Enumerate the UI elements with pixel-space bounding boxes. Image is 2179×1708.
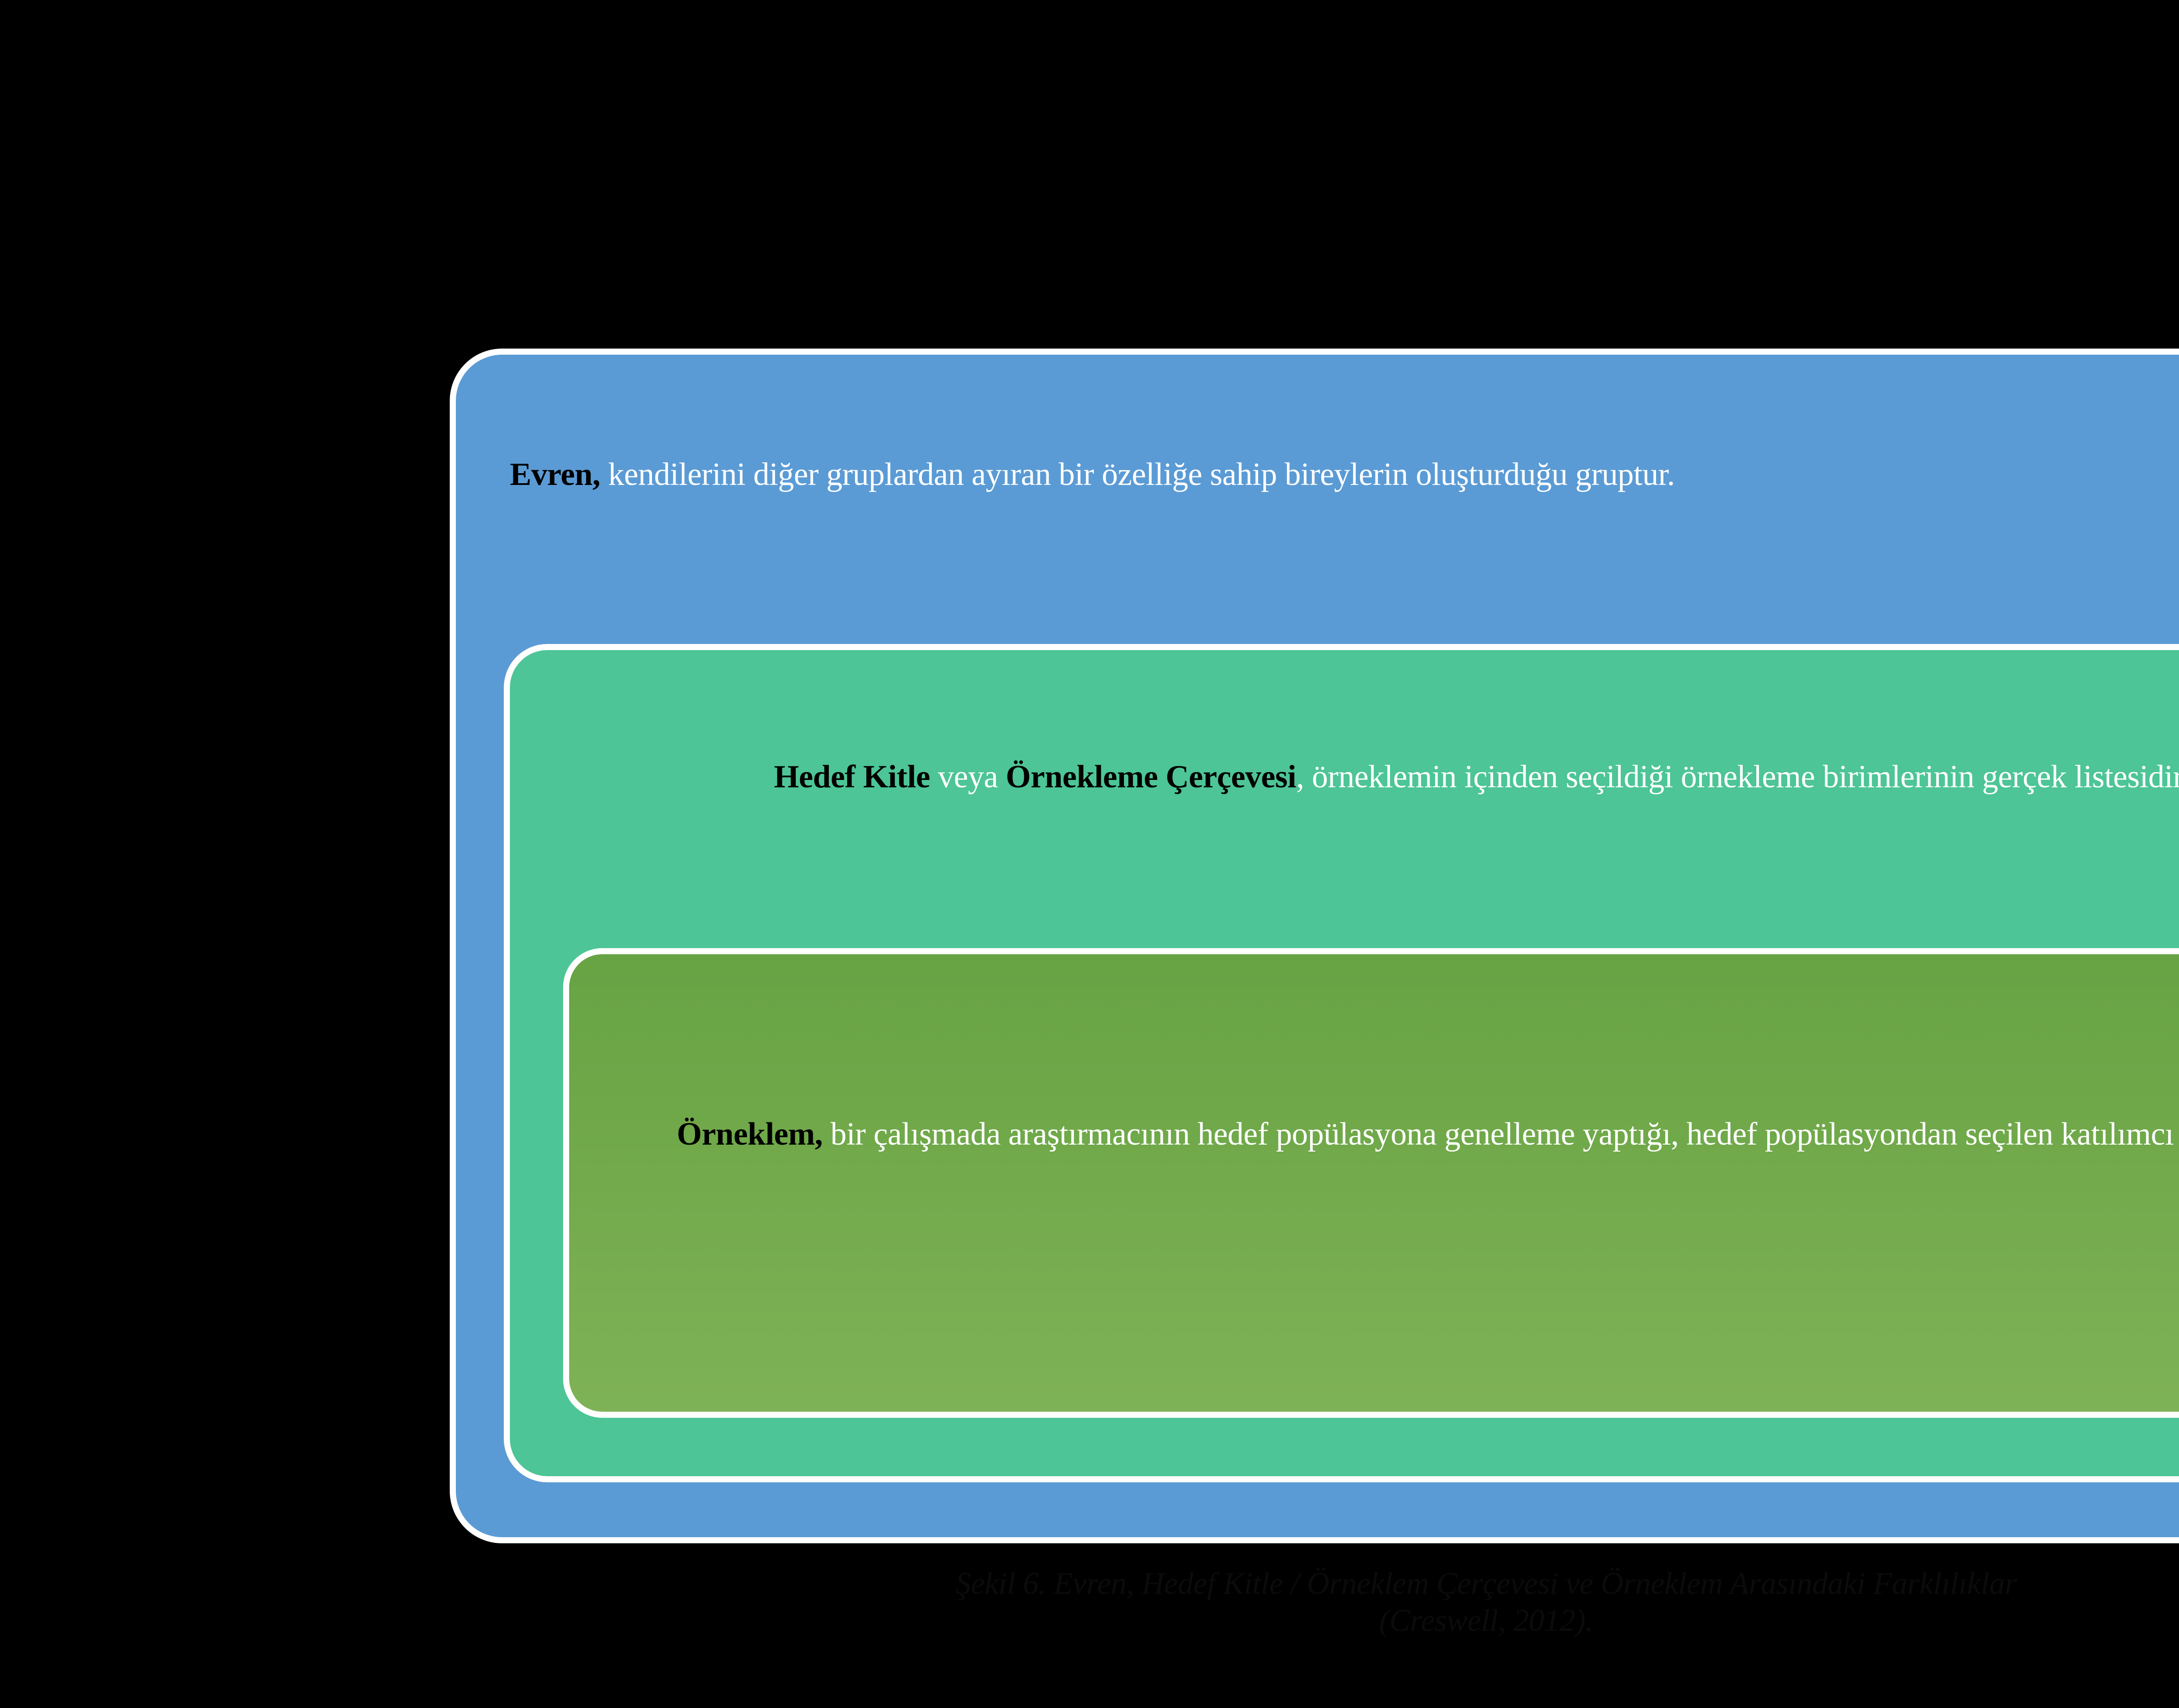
hedef-kitle-term: Hedef Kitle bbox=[774, 759, 930, 795]
figure-canvas: Evren, kendilerini diğer gruplardan ayır… bbox=[0, 0, 2179, 1708]
hedef-kitle-definition: , örneklemin içinden seçildiği örnekleme… bbox=[1296, 759, 2179, 795]
evren-definition: kendilerini diğer gruplardan ayıran bir … bbox=[600, 457, 1675, 492]
figure-caption-line-1: Şekil 6. Evren, Hedef Kitle / Örneklem Ç… bbox=[471, 1565, 2179, 1602]
evren-text-block: Evren, kendilerini diğer gruplardan ayır… bbox=[488, 456, 2179, 494]
evren-term: Evren, bbox=[510, 457, 600, 492]
hedef-kitle-text-block: Hedef Kitle veya Örnekleme Çerçevesi, ör… bbox=[567, 758, 2179, 796]
orneklem-container bbox=[563, 948, 2179, 1418]
orneklem-term: Örneklem, bbox=[677, 1116, 823, 1152]
figure-caption: Şekil 6. Evren, Hedef Kitle / Örneklem Ç… bbox=[471, 1565, 2179, 1639]
hedef-kitle-conjunction: veya bbox=[930, 759, 1006, 795]
figure-caption-line-2: (Creswell, 2012). bbox=[471, 1602, 2179, 1639]
ornekleme-cercevesi-term: Örnekleme Çerçevesi bbox=[1006, 759, 1296, 795]
orneklem-text-block: Örneklem, bir çalışmada araştırmacının h… bbox=[580, 1115, 2179, 1153]
orneklem-definition: bir çalışmada araştırmacının hedef popül… bbox=[823, 1116, 2179, 1152]
